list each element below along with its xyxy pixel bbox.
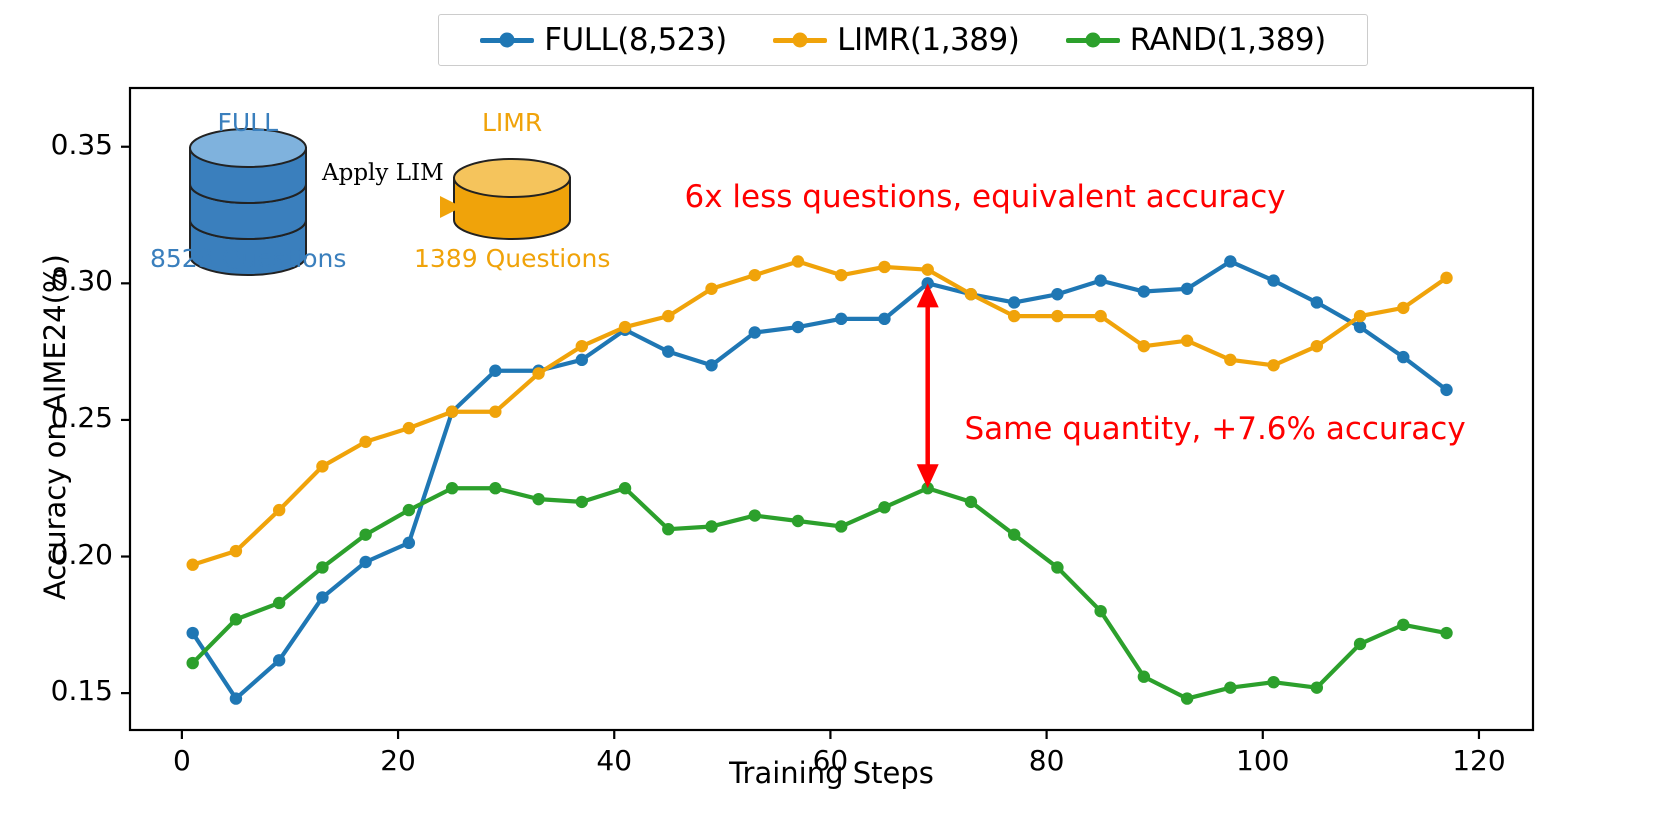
data-point	[835, 520, 847, 532]
data-point	[878, 501, 890, 513]
x-tick-label: 20	[348, 744, 448, 777]
data-point	[1181, 283, 1193, 295]
data-point	[835, 269, 847, 281]
data-point	[878, 261, 890, 273]
x-tick-label: 60	[780, 744, 880, 777]
data-point	[1008, 310, 1020, 322]
data-point	[1267, 359, 1279, 371]
data-point	[1354, 310, 1366, 322]
y-tick-label: 0.35	[0, 128, 113, 161]
data-point	[359, 436, 371, 448]
limr-cylinder-top	[454, 159, 570, 197]
data-point	[1181, 335, 1193, 347]
data-point	[359, 528, 371, 540]
inset-full-caption: 8523 Questions	[150, 244, 346, 273]
x-tick-label: 80	[997, 744, 1097, 777]
data-point	[1267, 274, 1279, 286]
data-point	[1311, 681, 1323, 693]
x-tick-label: 100	[1213, 744, 1313, 777]
data-point	[576, 340, 588, 352]
apply-lim-label: Apply LIM	[322, 160, 444, 186]
data-point	[1397, 619, 1409, 631]
data-point	[446, 406, 458, 418]
inset-limr-title: LIMR	[482, 108, 542, 137]
data-point	[403, 537, 415, 549]
data-point	[273, 597, 285, 609]
data-point	[403, 422, 415, 434]
data-point	[705, 283, 717, 295]
data-point	[1224, 681, 1236, 693]
accuracy-gain-note: Same quantity, +7.6% accuracy	[965, 411, 1466, 447]
data-point	[1224, 255, 1236, 267]
y-tick-label: 0.15	[0, 674, 113, 707]
data-point	[1138, 285, 1150, 297]
data-point	[1008, 296, 1020, 308]
chart-figure: FULL(8,523) LIMR(1,389) RAND(1,389) Accu…	[0, 0, 1661, 830]
data-point	[1138, 340, 1150, 352]
data-point	[489, 365, 501, 377]
data-point	[835, 313, 847, 325]
data-point	[792, 321, 804, 333]
data-point	[1094, 274, 1106, 286]
data-point	[532, 367, 544, 379]
data-point	[489, 482, 501, 494]
data-point	[1094, 310, 1106, 322]
data-point	[792, 515, 804, 527]
data-point	[489, 406, 501, 418]
data-point	[965, 496, 977, 508]
data-point	[186, 559, 198, 571]
data-point	[316, 591, 328, 603]
data-point	[1440, 272, 1452, 284]
data-point	[1138, 671, 1150, 683]
inset-limr-caption: 1389 Questions	[414, 244, 610, 273]
data-point	[1094, 605, 1106, 617]
data-point	[186, 657, 198, 669]
data-point	[273, 654, 285, 666]
data-point	[1267, 676, 1279, 688]
inset-full-title: FULL	[218, 108, 279, 137]
data-point	[532, 493, 544, 505]
data-point	[230, 613, 242, 625]
x-tick-label: 40	[564, 744, 664, 777]
data-point	[1051, 561, 1063, 573]
data-point	[1397, 302, 1409, 314]
data-point	[1051, 288, 1063, 300]
data-point	[316, 460, 328, 472]
data-point	[662, 523, 674, 535]
data-point	[1440, 627, 1452, 639]
data-point	[230, 545, 242, 557]
data-point	[662, 310, 674, 322]
data-point	[922, 263, 934, 275]
data-point	[1354, 638, 1366, 650]
data-point	[619, 321, 631, 333]
data-point	[1008, 528, 1020, 540]
data-point	[446, 482, 458, 494]
data-point	[662, 345, 674, 357]
data-point	[576, 496, 588, 508]
data-point	[230, 692, 242, 704]
data-point	[619, 482, 631, 494]
data-point	[749, 269, 761, 281]
data-point	[1311, 340, 1323, 352]
data-point	[705, 520, 717, 532]
data-point	[1224, 354, 1236, 366]
y-tick-label: 0.20	[0, 538, 113, 571]
data-point	[1440, 384, 1452, 396]
data-point	[1354, 321, 1366, 333]
x-tick-label: 120	[1429, 744, 1529, 777]
y-tick-label: 0.30	[0, 264, 113, 297]
data-point	[1051, 310, 1063, 322]
data-point	[316, 561, 328, 573]
data-point	[705, 359, 717, 371]
x-tick-label: 0	[132, 744, 232, 777]
data-point	[792, 255, 804, 267]
y-tick-label: 0.25	[0, 401, 113, 434]
data-point	[749, 509, 761, 521]
data-point	[273, 504, 285, 516]
equivalent-accuracy-note: 6x less questions, equivalent accuracy	[685, 179, 1286, 215]
data-point	[359, 556, 371, 568]
data-point	[576, 354, 588, 366]
data-point	[403, 504, 415, 516]
data-point	[1311, 296, 1323, 308]
data-point	[965, 288, 977, 300]
data-point	[749, 326, 761, 338]
data-point	[878, 313, 890, 325]
data-point	[186, 627, 198, 639]
data-point	[1397, 351, 1409, 363]
data-point	[1181, 692, 1193, 704]
